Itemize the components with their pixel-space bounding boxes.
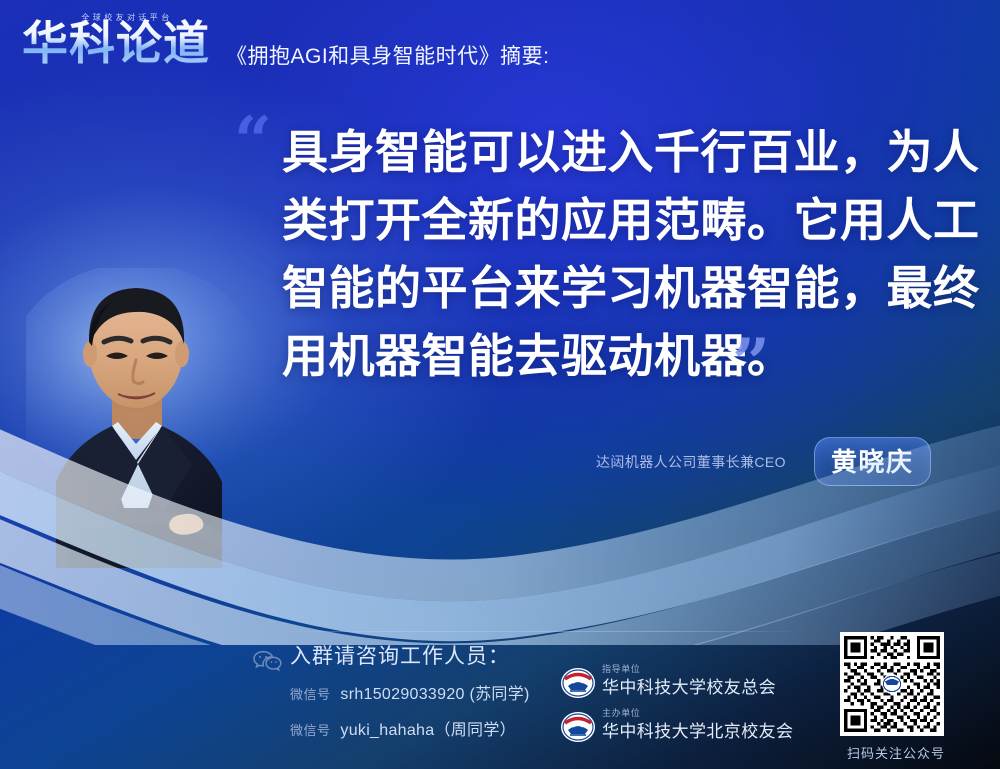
organization-name: 华中科技大学校友总会 xyxy=(602,673,776,698)
wechat-contact-row: 微信号 srh15029033920 (苏同学) xyxy=(290,680,530,704)
organization-name: 华中科技大学北京校友会 xyxy=(602,717,793,742)
logo-wordmark: 华科论道 xyxy=(22,18,218,68)
qr-section: 扫码关注公众号 xyxy=(840,632,960,752)
qr-caption: 扫码关注公众号 xyxy=(840,743,952,762)
wave-decoration xyxy=(0,415,1000,645)
quote-line-3: 智能的平台来学习机器智能，最终 xyxy=(282,254,942,322)
quote-close-mark: ” xyxy=(732,330,768,396)
quote-line-2: 类打开全新的应用范畴。它用人工 xyxy=(282,186,942,254)
brand-logo: 全球校友对话平台 华科论道 xyxy=(22,10,218,72)
hust-seal-icon xyxy=(560,711,596,743)
poster-canvas: 全球校友对话平台 华科论道 《拥抱AGI和具身智能时代》摘要: xyxy=(0,0,1000,769)
quote-text: 具身智能可以进入千行百业，为人 类打开全新的应用范畴。它用人工 智能的平台来学习… xyxy=(282,118,942,390)
wechat-label: 微信号 xyxy=(290,723,331,738)
contact-heading: 入群请咨询工作人员： xyxy=(290,640,510,670)
quote-open-mark: “ xyxy=(234,108,270,174)
wechat-icon xyxy=(252,649,282,673)
organizations-section: 指导单位 华中科技大学校友总会 主办单位 华中科技大学北京校友会 xyxy=(560,664,810,754)
quote-line-1: 具身智能可以进入千行百业，为人 xyxy=(282,118,942,186)
page-title: 《拥抱AGI和具身智能时代》摘要: xyxy=(226,40,550,70)
quote-line-4: 用机器智能去驱动机器。 xyxy=(282,322,942,390)
hust-seal-icon xyxy=(560,667,596,699)
wave-ribbons xyxy=(0,415,1000,645)
wechat-id: yuki_hahaha（周同学） xyxy=(340,722,516,739)
wechat-label: 微信号 xyxy=(290,687,331,702)
footer-divider xyxy=(285,631,790,632)
poster-header: 全球校友对话平台 华科论道 《拥抱AGI和具身智能时代》摘要: xyxy=(0,0,1000,92)
wechat-id: srh15029033920 (苏同学) xyxy=(340,686,529,703)
qr-code-image[interactable] xyxy=(840,632,944,736)
wechat-contact-row: 微信号 yuki_hahaha（周同学） xyxy=(290,716,516,740)
